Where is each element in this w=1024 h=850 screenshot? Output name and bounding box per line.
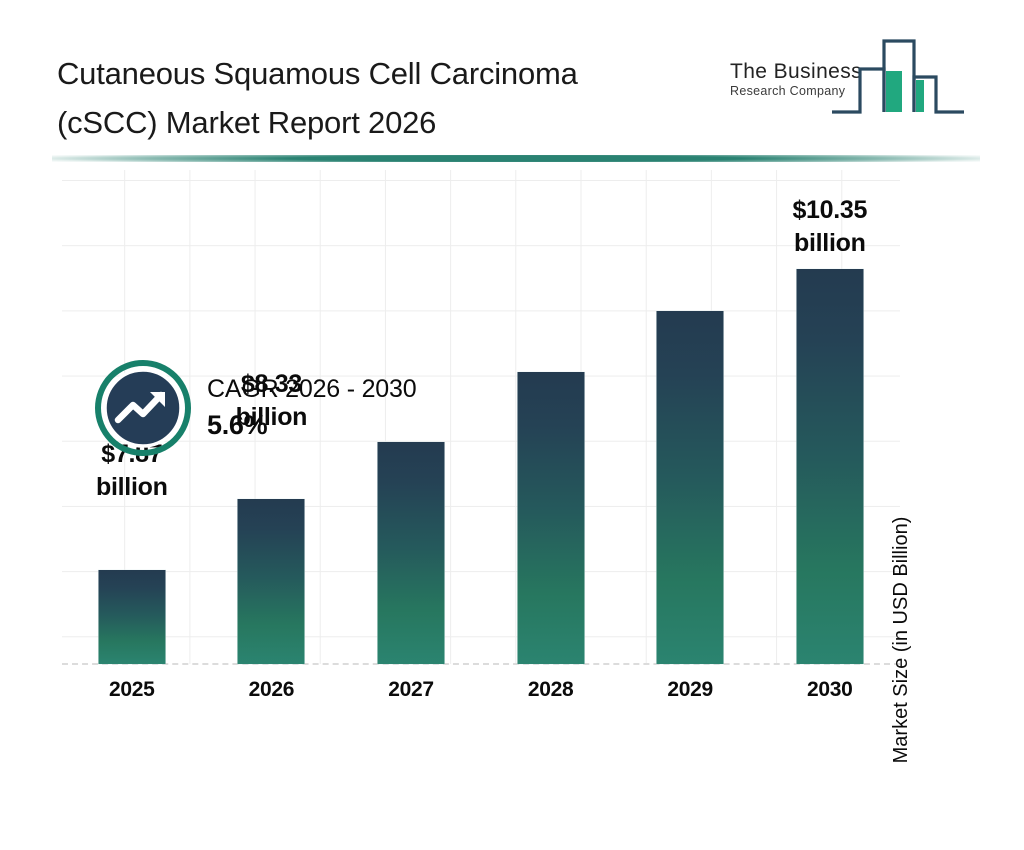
bar-2026[interactable] [238, 499, 305, 664]
bar-group-2030: $10.35 billion [760, 162, 900, 664]
bar-group-2029 [620, 162, 760, 664]
bar-2028[interactable] [517, 372, 584, 664]
bar-2030[interactable] [796, 269, 863, 664]
x-label-2029: 2029 [620, 678, 760, 702]
header: Cutaneous Squamous Cell Carcinoma (cSCC)… [0, 0, 1024, 150]
company-logo: The Business Research Company [728, 33, 968, 133]
slide-root: Cutaneous Squamous Cell Carcinoma (cSCC)… [0, 0, 1024, 768]
cagr-text-block: CAGR 2026 - 2030 5.6% [207, 372, 507, 444]
cagr-value-label: 5.6% [207, 406, 507, 444]
page-title: Cutaneous Squamous Cell Carcinoma (cSCC)… [57, 49, 737, 147]
bar-value-label-2030: $10.35 billion [755, 194, 905, 260]
bar-chart-logo-icon [828, 33, 968, 128]
x-label-2028: 2028 [481, 678, 621, 702]
x-label-2025: 2025 [62, 678, 202, 702]
x-label-2027: 2027 [341, 678, 481, 702]
x-label-2030: 2030 [760, 678, 900, 702]
header-divider [52, 155, 980, 162]
x-axis-labels: 2025 2026 2027 2028 2029 2030 [62, 678, 900, 718]
bar-2025[interactable] [98, 570, 165, 664]
bar-2027[interactable] [377, 442, 444, 664]
y-axis-title: Market Size (in USD Billion) [890, 430, 913, 850]
bar-chart: $7.87 billion $8.33 billion $10.35 bi [0, 162, 1024, 768]
cagr-callout: CAGR 2026 - 2030 5.6% [95, 360, 515, 470]
trending-up-icon [95, 360, 191, 456]
x-label-2026: 2026 [202, 678, 342, 702]
bar-2029[interactable] [657, 311, 724, 664]
cagr-period-label: CAGR 2026 - 2030 [207, 372, 507, 406]
